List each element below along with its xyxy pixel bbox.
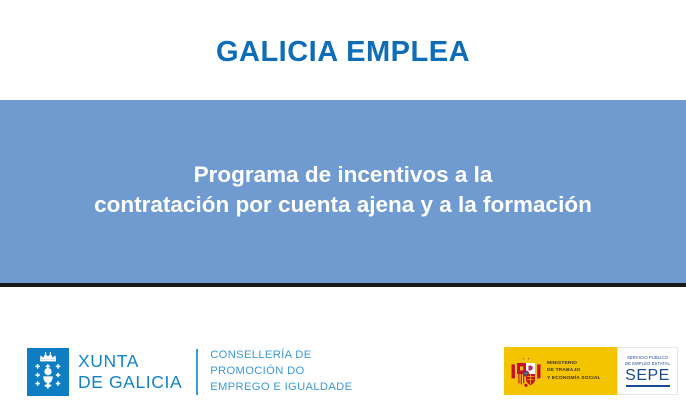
conselleria-line-2: PROMOCIÓN DO (210, 364, 352, 380)
xunta-de-galicia-logo: XUNTA DE GALICIA CONSELLERÍA DE PROMOCIÓ… (27, 346, 352, 398)
conselleria-line-3: EMPREGO E IGUALDADE (210, 380, 352, 396)
ministerio-line-3: Y ECONOMÍA SOCIAL (547, 375, 601, 382)
ministerio-line-2: DE TRABAJO (547, 367, 601, 374)
ministerio-wordmark: MINISTERIO DE TRABAJO Y ECONOMÍA SOCIAL (547, 360, 601, 381)
sepe-acronym: SEPE (625, 368, 670, 384)
sepe-underline (626, 385, 670, 387)
ministerio-trabajo-logo: MINISTERIO DE TRABAJO Y ECONOMÍA SOCIAL (504, 347, 617, 395)
banner-text: Programa de incentivos a la contratación… (23, 160, 663, 223)
slide-canvas: GALICIA EMPLEA Programa de incentivos a … (0, 0, 686, 410)
sepe-logo: SERVICIO PÚBLICO DE EMPLEO ESTATAL SEPE (617, 347, 678, 395)
logo-divider (196, 349, 198, 395)
banner-line-2: contratación por cuenta ajena y a la for… (23, 190, 663, 220)
ministerio-line-1: MINISTERIO (547, 360, 601, 367)
xunta-wordmark-line-2: DE GALICIA (78, 372, 182, 393)
xunta-wordmark-line-1: XUNTA (78, 351, 139, 371)
conselleria-line-1: CONSELLERÍA DE (210, 348, 352, 364)
title-area: GALICIA EMPLEA (0, 0, 686, 100)
banner-line-1: Programa de incentivos a la (23, 160, 663, 190)
spain-coat-of-arms-icon (510, 352, 542, 390)
page-title: GALICIA EMPLEA (216, 31, 470, 69)
sepe-subtitle: SERVICIO PÚBLICO DE EMPLEO ESTATAL (625, 355, 670, 367)
program-banner: Programa de incentivos a la contratación… (0, 100, 686, 283)
conselleria-text: CONSELLERÍA DE PROMOCIÓN DO EMPREGO E IG… (210, 348, 352, 396)
xunta-emblem-icon (27, 348, 69, 396)
xunta-wordmark: XUNTA DE GALICIA (78, 351, 182, 392)
